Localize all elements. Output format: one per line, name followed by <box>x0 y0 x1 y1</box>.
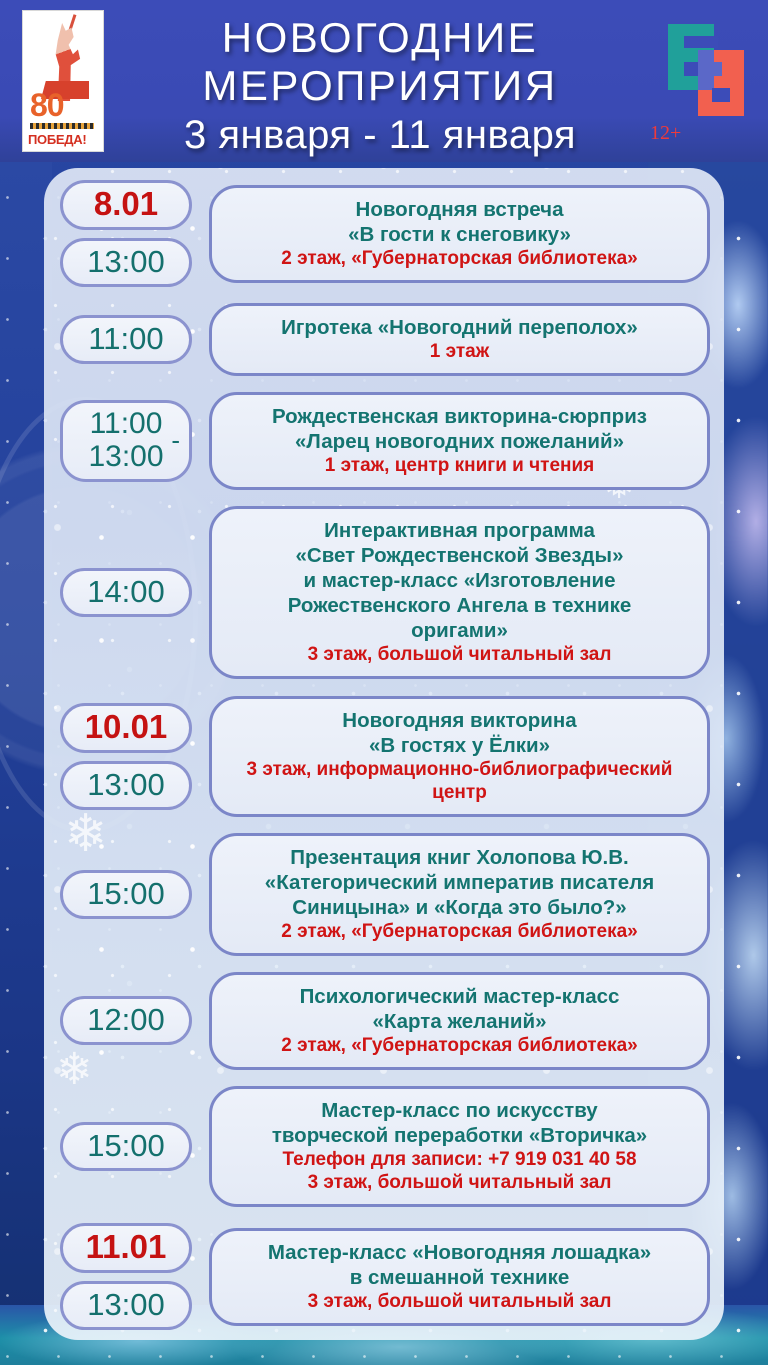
row-time-slot: 11:00 <box>55 315 197 364</box>
time-pill: 11:0013:00- <box>60 400 192 482</box>
row-time-slot: 11:0013:00- <box>55 400 197 482</box>
event-card: Игротека «Новогодний переполох»1 этаж <box>209 303 710 376</box>
event-title-line: Интерактивная программа <box>226 518 693 543</box>
event-card: Интерактивная программа«Свет Рождественс… <box>209 506 710 679</box>
schedule-panel: ❄ ❅ ❄ ❅ ❄ 8.0113:00Новогодняя встреча«В … <box>44 168 724 1340</box>
event-title-line: Рожественского Ангела в технике <box>226 593 693 618</box>
event-title-line: «Карта желаний» <box>226 1009 693 1034</box>
event-location: 3 этаж, большой читальный зал <box>226 1290 693 1313</box>
row-time-slot: 15:00 <box>55 1122 197 1171</box>
schedule-row: 14:00Интерактивная программа«Свет Рождес… <box>44 506 724 679</box>
schedule-row: 11.0113:00Мастер-класс «Новогодняя лошад… <box>44 1223 724 1330</box>
time-pill: 15:00 <box>60 870 192 919</box>
event-location: 3 этаж, большой читальный зал <box>226 643 693 666</box>
date-pill: 11.01 <box>60 1223 192 1273</box>
title-line-1: НОВОГОДНИЕ <box>120 14 640 62</box>
row-time-slot: 15:00 <box>55 870 197 919</box>
victory-word: ПОБЕДА! <box>28 132 86 147</box>
event-location: 1 этаж, центр книги и чтения <box>226 454 693 477</box>
row-time-slot: 11.0113:00 <box>55 1223 197 1330</box>
schedule-row: 11:0013:00-Рождественская викторина-сюрп… <box>44 392 724 490</box>
st-george-ribbon-icon <box>30 123 94 129</box>
event-title-line: в смешанной технике <box>226 1265 693 1290</box>
event-location: 2 этаж, «Губернаторская библиотека» <box>226 1034 693 1057</box>
schedule-list: 8.0113:00Новогодняя встреча«В гости к сн… <box>44 168 724 1330</box>
event-location: 2 этаж, «Губернаторская библиотека» <box>226 247 693 270</box>
poster: 80 ПОБЕДА! НОВОГОДНИЕ МЕРОПРИЯТИЯ 3 янва… <box>0 0 768 1365</box>
event-card: Рождественская викторина-сюрприз«Ларец н… <box>209 392 710 490</box>
event-title-line: Игротека «Новогодний переполох» <box>226 315 693 340</box>
library-logo <box>668 24 742 116</box>
event-title-line: Новогодняя встреча <box>226 197 693 222</box>
schedule-row: 15:00Мастер-класс по искусствутворческой… <box>44 1086 724 1207</box>
event-card: Новогодняя викторина«В гостях у Ёлки»3 э… <box>209 696 710 817</box>
victory-number: 80 <box>30 87 64 124</box>
event-title-line: Синицына» и «Когда это было?» <box>226 895 693 920</box>
time-pill: 14:00 <box>60 568 192 617</box>
event-title-line: Презентация книг Холопова Ю.В. <box>226 845 693 870</box>
event-location: 3 этаж, информационно-библиографический … <box>226 758 693 804</box>
event-location: 3 этаж, большой читальный зал <box>226 1171 693 1194</box>
schedule-row: 10.0113:00Новогодняя викторина«В гостях … <box>44 696 724 817</box>
event-title-line: Рождественская викторина-сюрприз <box>226 404 693 429</box>
time-pill: 13:00 <box>60 761 192 810</box>
event-title-line: «В гости к снеговику» <box>226 222 693 247</box>
event-title-line: Мастер-класс «Новогодняя лошадка» <box>226 1240 693 1265</box>
event-title-line: Новогодняя викторина <box>226 708 693 733</box>
event-card: Новогодняя встреча«В гости к снеговику»2… <box>209 185 710 283</box>
date-pill: 8.01 <box>60 180 192 230</box>
time-pill: 13:00 <box>60 1281 192 1330</box>
logo-notch-4 <box>712 88 730 102</box>
event-card: Презентация книг Холопова Ю.В.«Категорич… <box>209 833 710 956</box>
row-time-slot: 8.0113:00 <box>55 180 197 287</box>
event-title-line: оригами» <box>226 618 693 643</box>
logo-notch-3 <box>698 62 722 76</box>
time-pill: 15:00 <box>60 1122 192 1171</box>
event-title-line: «В гостях у Ёлки» <box>226 733 693 758</box>
event-location: 1 этаж <box>226 340 693 363</box>
event-card: Психологический мастер-класс«Карта желан… <box>209 972 710 1070</box>
time-pill: 13:00 <box>60 238 192 287</box>
age-rating-badge: 12+ <box>650 122 681 145</box>
date-range: 3 января - 11 января <box>120 112 640 158</box>
schedule-row: 12:00Психологический мастер-класс«Карта … <box>44 972 724 1070</box>
schedule-row: 11:00Игротека «Новогодний переполох»1 эт… <box>44 303 724 376</box>
event-card: Мастер-класс «Новогодняя лошадка»в смеша… <box>209 1228 710 1326</box>
row-time-slot: 12:00 <box>55 996 197 1045</box>
time-pill: 11:00 <box>60 315 192 364</box>
event-title-line: Психологический мастер-класс <box>226 984 693 1009</box>
event-title-line: творческой переработки «Вторичка» <box>226 1123 693 1148</box>
event-title-line: «Ларец новогодних пожеланий» <box>226 429 693 454</box>
title-line-2: МЕРОПРИЯТИЯ <box>120 62 640 110</box>
event-title-line: Мастер-класс по искусству <box>226 1098 693 1123</box>
poster-header: 80 ПОБЕДА! НОВОГОДНИЕ МЕРОПРИЯТИЯ 3 янва… <box>0 0 768 162</box>
victory-80-logo: 80 ПОБЕДА! <box>22 10 104 152</box>
row-time-slot: 10.0113:00 <box>55 703 197 810</box>
schedule-row: 15:00Презентация книг Холопова Ю.В.«Кате… <box>44 833 724 956</box>
time-pill: 12:00 <box>60 996 192 1045</box>
event-card: Мастер-класс по искусствутворческой пере… <box>209 1086 710 1207</box>
date-pill: 10.01 <box>60 703 192 753</box>
event-location: 2 этаж, «Губернаторская библиотека» <box>226 920 693 943</box>
event-title-line: и мастер-класс «Изготовление <box>226 568 693 593</box>
event-title-line: «Свет Рождественской Звезды» <box>226 543 693 568</box>
event-title-line: «Категорический императив писателя <box>226 870 693 895</box>
logo-notch-1 <box>684 36 718 48</box>
page-title: НОВОГОДНИЕ МЕРОПРИЯТИЯ 3 января - 11 янв… <box>120 14 640 158</box>
event-location: Телефон для записи: +7 919 031 40 58 <box>226 1148 693 1171</box>
row-time-slot: 14:00 <box>55 568 197 617</box>
schedule-row: 8.0113:00Новогодняя встреча«В гости к сн… <box>44 180 724 287</box>
